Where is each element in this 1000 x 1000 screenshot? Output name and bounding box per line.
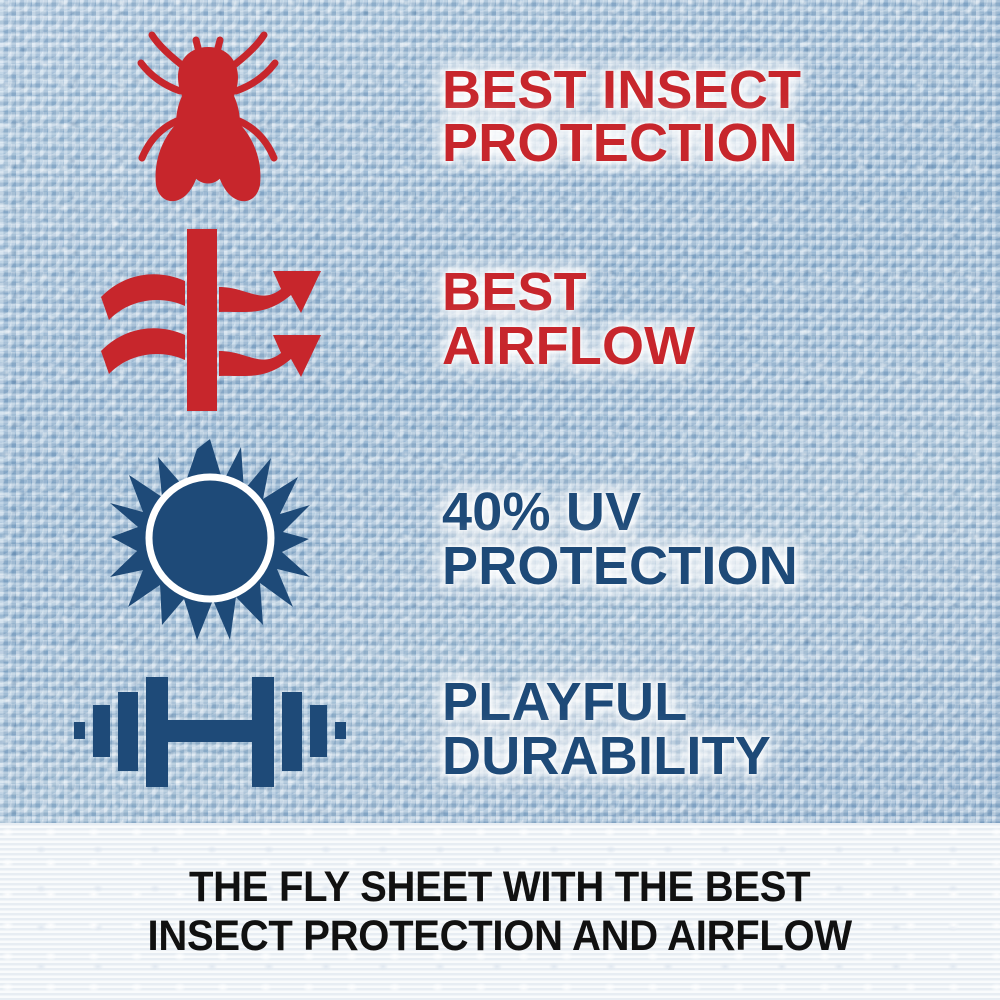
feature-list: BEST INSECT PROTECTION <box>0 0 1000 823</box>
dumbbell-plate-right-2 <box>310 705 327 757</box>
caption-text: THE FLY SHEET WITH THE BEST INSECT PROTE… <box>148 863 852 959</box>
feature-icon-cell <box>0 437 420 642</box>
sun-icon <box>110 437 310 642</box>
dumbbell-plate-right-1 <box>335 722 346 739</box>
product-feature-infographic: BEST INSECT PROTECTION <box>0 0 1000 1000</box>
feature-title-durability: PLAYFUL DURABILITY <box>442 676 1000 783</box>
dumbbell-plate-left-1 <box>74 722 85 739</box>
dumbbell-plate-right-4 <box>252 677 274 787</box>
dumbbell-plate-left-3 <box>118 692 138 771</box>
feature-text-cell: PLAYFUL DURABILITY <box>420 676 1000 783</box>
feature-icon-cell <box>0 225 420 415</box>
dumbbell-icon <box>74 665 346 795</box>
feature-text-cell: 40% UV PROTECTION <box>420 486 1000 593</box>
feature-text-cell: BEST AIRFLOW <box>420 266 1000 373</box>
dumbbell-plate-left-2 <box>93 705 110 757</box>
airflow-upper-outgoing <box>219 271 321 313</box>
feature-title-insect-protection: BEST INSECT PROTECTION <box>442 64 1000 171</box>
dumbbell-plate-right-3 <box>282 692 302 771</box>
feature-icon-cell <box>0 665 420 795</box>
airflow-lower-incoming <box>101 328 185 374</box>
airflow-upper-incoming <box>101 274 185 320</box>
dumbbell-bar <box>168 720 252 742</box>
fly-body <box>176 47 240 184</box>
feature-row-insect-protection: BEST INSECT PROTECTION <box>0 22 1000 212</box>
feature-row-uv-protection: 40% UV PROTECTION <box>0 432 1000 647</box>
feature-title-airflow: BEST AIRFLOW <box>442 266 1000 373</box>
feature-text-cell: BEST INSECT PROTECTION <box>420 64 1000 171</box>
airflow-lower-outgoing <box>219 335 321 377</box>
airflow-arrows-icon <box>95 225 325 415</box>
feature-title-uv-protection: 40% UV PROTECTION <box>442 486 1000 593</box>
feature-row-durability: PLAYFUL DURABILITY <box>0 652 1000 807</box>
fly-icon <box>125 25 295 210</box>
caption-band: THE FLY SHEET WITH THE BEST INSECT PROTE… <box>0 823 1000 1000</box>
dumbbell-plate-left-4 <box>146 677 168 787</box>
feature-icon-cell <box>0 25 420 210</box>
airflow-barrier-bar <box>187 229 217 411</box>
feature-row-airflow: BEST AIRFLOW <box>0 222 1000 417</box>
